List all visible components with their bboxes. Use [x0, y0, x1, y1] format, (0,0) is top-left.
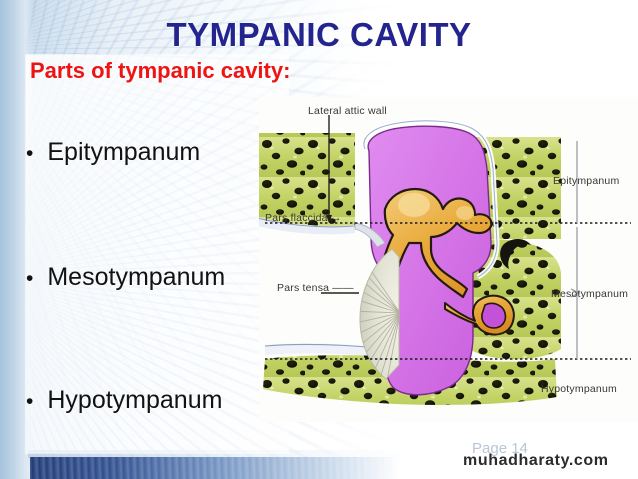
diagram-label-mesotympanum: Mesotympanum	[551, 288, 628, 300]
list-item: • Hypotympanum	[26, 386, 222, 415]
bullet-dot-icon: •	[26, 268, 33, 289]
list-item: • Epitympanum	[26, 138, 200, 167]
bottom-accent-band	[30, 457, 400, 479]
bullet-dot-icon: •	[26, 143, 33, 164]
bullet-label: Mesotympanum	[47, 263, 225, 292]
tympanic-cavity-diagram	[259, 97, 638, 422]
diagram-label-epitympanum: Epitympanum	[553, 175, 619, 187]
list-item: • Mesotympanum	[26, 263, 225, 292]
bullet-label: Hypotympanum	[47, 386, 222, 415]
diagram-label-hypotympanum: Hypotympanum	[541, 383, 617, 395]
bullet-dot-icon: •	[26, 391, 33, 412]
section-subtitle: Parts of tympanic cavity:	[30, 58, 290, 84]
page-title: TYMPANIC CAVITY	[0, 16, 638, 54]
bullet-label: Epitympanum	[47, 138, 200, 167]
diagram-label-pars-tensa: Pars tensa ——	[277, 282, 354, 294]
diagram-label-pars-flaccida: Pars flaccida →	[265, 212, 342, 224]
diagram-label-lateral-attic-wall: Lateral attic wall	[308, 105, 387, 117]
slide-canvas: TYMPANIC CAVITY Parts of tympanic cavity…	[0, 0, 638, 479]
site-watermark: muhadharaty.com	[463, 452, 609, 470]
